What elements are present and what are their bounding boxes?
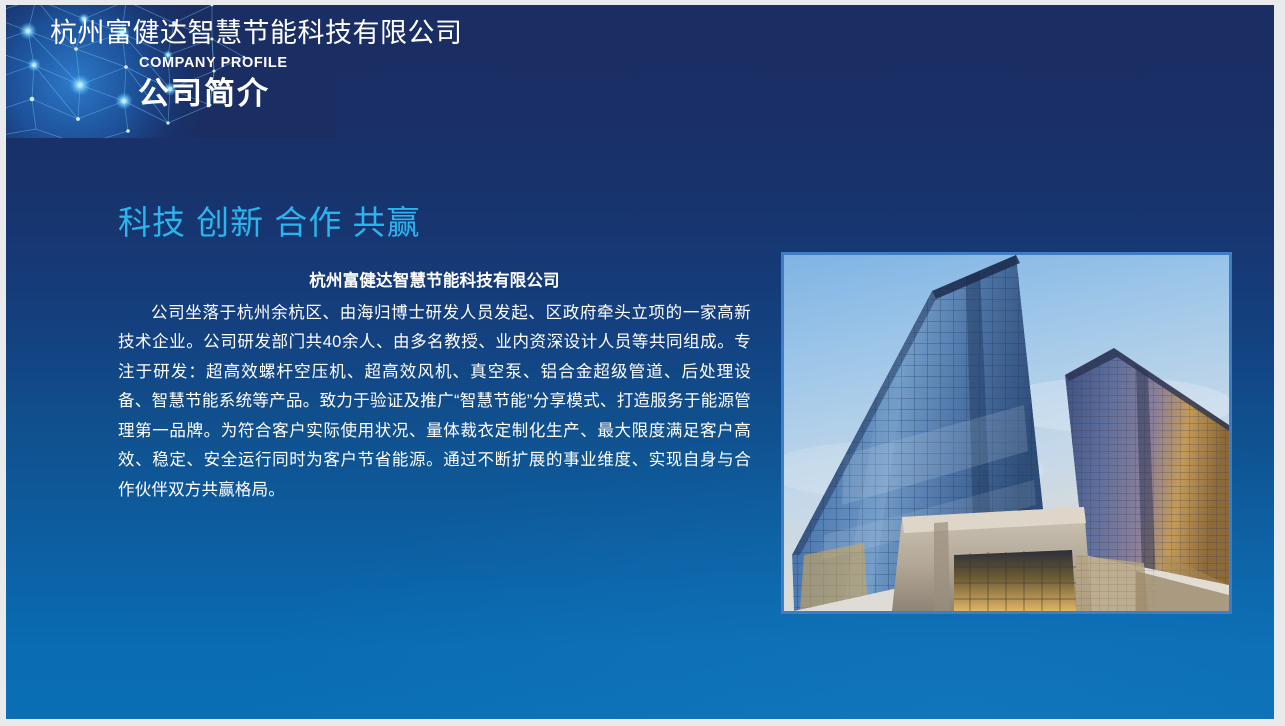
slogan: 科技 创新 合作 共赢 xyxy=(118,202,421,244)
body-heading: 杭州富健达智慧节能科技有限公司 xyxy=(118,267,751,297)
company-profile-slide: 杭州富健达智慧节能科技有限公司 COMPANY PROFILE 公司简介 科技 … xyxy=(6,5,1274,719)
header-text-block: 杭州富健达智慧节能科技有限公司 COMPANY PROFILE 公司简介 xyxy=(50,17,463,114)
glass-skyscrapers-photo xyxy=(781,252,1232,614)
section-label-en: COMPANY PROFILE xyxy=(139,55,463,71)
section-label-cn: 公司简介 xyxy=(138,74,463,114)
slide-page: 杭州富健达智慧节能科技有限公司 COMPANY PROFILE 公司简介 科技 … xyxy=(0,0,1285,726)
body-paragraph: 公司坐落于杭州余杭区、由海归博士研发人员发起、区政府牵头立项的一家高新技术企业。… xyxy=(118,299,751,506)
body-copy: 杭州富健达智慧节能科技有限公司 公司坐落于杭州余杭区、由海归博士研发人员发起、区… xyxy=(118,267,751,505)
company-name: 杭州富健达智慧节能科技有限公司 xyxy=(50,17,463,49)
